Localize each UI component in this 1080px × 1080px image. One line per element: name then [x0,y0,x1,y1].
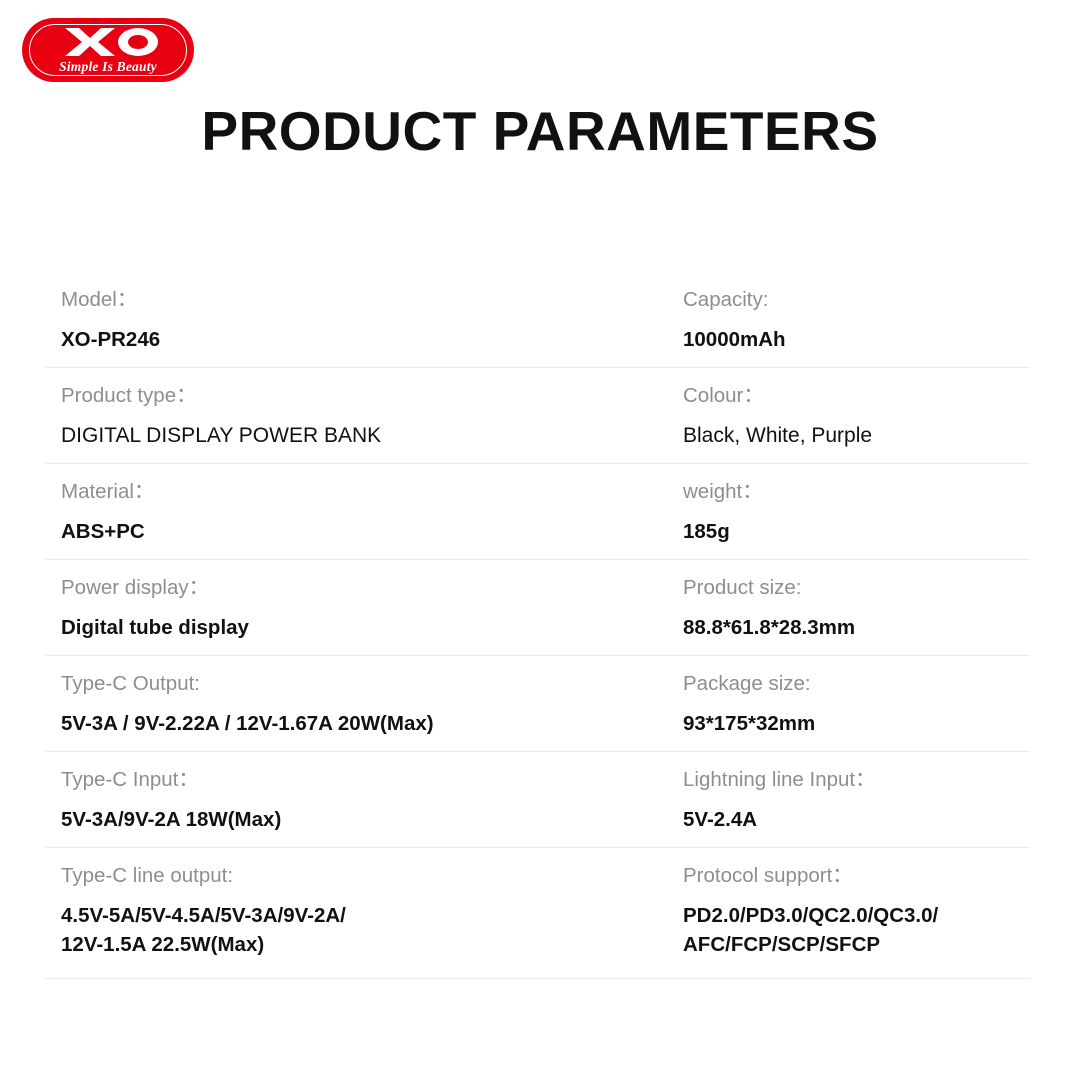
spec-value: Black, White, Purple [683,421,1030,451]
spec-label: Colour： [683,386,1030,407]
spec-row: Product type：DIGITAL DISPLAY POWER BANKC… [45,368,1030,464]
spec-cell-left: Type-C Output:5V-3A / 9V-2.22A / 12V-1.6… [45,656,678,751]
spec-value: Digital tube display [61,613,678,642]
product-parameters-table: Model：XO-PR246Capacity:10000mAhProduct t… [45,272,1030,979]
spec-value: 5V-3A / 9V-2.22A / 12V-1.67A 20W(Max) [61,709,678,738]
spec-value: XO-PR246 [61,325,678,354]
spec-value: ABS+PC [61,517,678,546]
spec-value: 88.8*61.8*28.3mm [683,613,1030,642]
spec-cell-left: Type-C line output:4.5V-5A/5V-4.5A/5V-3A… [45,848,678,978]
spec-label: Product type： [61,386,678,407]
brand-logo: Simple Is Beauty [22,18,194,82]
spec-row: Material：ABS+PCweight：185g [45,464,1030,560]
logo-tagline: Simple Is Beauty [22,59,194,75]
spec-cell-left: Material：ABS+PC [45,464,678,559]
spec-value: PD2.0/PD3.0/QC2.0/QC3.0/ AFC/FCP/SCP/SFC… [683,901,1030,959]
spec-row: Model：XO-PR246Capacity:10000mAh [45,272,1030,368]
spec-label: Type-C Input： [61,770,678,791]
xo-logo-icon [22,23,194,57]
spec-label: Model： [61,290,678,311]
spec-value: 4.5V-5A/5V-4.5A/5V-3A/9V-2A/ 12V-1.5A 22… [61,901,678,959]
spec-label: Package size: [683,674,1030,695]
spec-label: Product size: [683,578,1030,599]
spec-cell-left: Type-C Input：5V-3A/9V-2A 18W(Max) [45,752,678,847]
spec-cell-right: Capacity:10000mAh [678,272,1030,367]
spec-cell-right: Package size:93*175*32mm [678,656,1030,751]
spec-label: Capacity: [683,290,1030,311]
spec-value: 185g [683,517,1030,546]
spec-cell-left: Product type：DIGITAL DISPLAY POWER BANK [45,368,678,463]
spec-label: Protocol support： [683,866,1030,887]
spec-value: 10000mAh [683,325,1030,354]
spec-value: 5V-2.4A [683,805,1030,834]
spec-value: 5V-3A/9V-2A 18W(Max) [61,805,678,834]
spec-cell-left: Model：XO-PR246 [45,272,678,367]
spec-cell-right: Lightning line Input：5V-2.4A [678,752,1030,847]
spec-cell-right: weight：185g [678,464,1030,559]
spec-label: Type-C line output: [61,866,678,887]
spec-cell-right: Protocol support：PD2.0/PD3.0/QC2.0/QC3.0… [678,848,1030,978]
spec-label: Type-C Output: [61,674,678,695]
spec-cell-right: Colour：Black, White, Purple [678,368,1030,463]
spec-row: Type-C line output:4.5V-5A/5V-4.5A/5V-3A… [45,848,1030,979]
logo-corner-dot-bottomright [165,68,168,71]
spec-value: DIGITAL DISPLAY POWER BANK [61,421,678,451]
spec-value: 93*175*32mm [683,709,1030,738]
spec-label: weight： [683,482,1030,503]
spec-row: Power display：Digital tube displayProduc… [45,560,1030,656]
spec-cell-left: Power display：Digital tube display [45,560,678,655]
spec-row: Type-C Output:5V-3A / 9V-2.22A / 12V-1.6… [45,656,1030,752]
spec-label: Lightning line Input： [683,770,1030,791]
spec-row: Type-C Input：5V-3A/9V-2A 18W(Max)Lightni… [45,752,1030,848]
spec-label: Material： [61,482,678,503]
spec-label: Power display： [61,578,678,599]
spec-cell-right: Product size:88.8*61.8*28.3mm [678,560,1030,655]
page-title: PRODUCT PARAMETERS [0,99,1080,163]
